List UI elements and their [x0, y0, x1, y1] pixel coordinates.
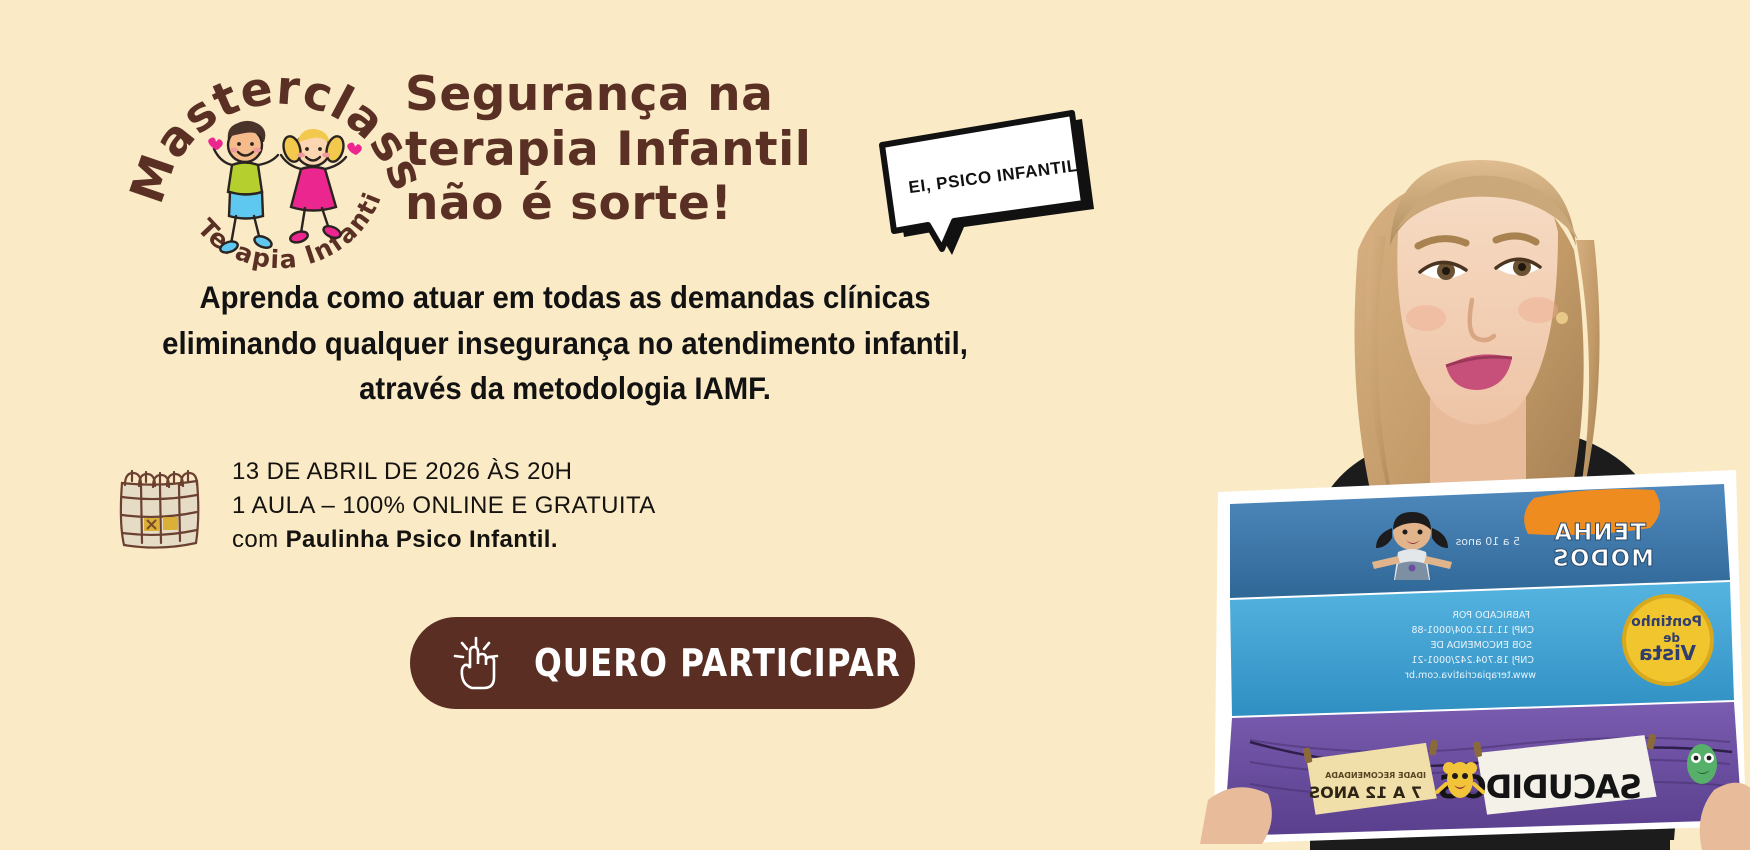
svg-text:SOB ENCOMENDA DE: SOB ENCOMENDA DE [1430, 640, 1532, 651]
cta-label: QUERO PARTICIPAR [534, 641, 901, 685]
subhead-line-3: através da metodologia IAMF. [95, 366, 1034, 412]
event-host-prefix: com [232, 526, 286, 553]
svg-text:CNPJ 11.112.004/0001-88: CNPJ 11.112.004/0001-88 [1411, 625, 1534, 636]
headline-line-1: Segurança na [405, 68, 875, 123]
logo-top-arc-text: Masterclass [120, 60, 436, 210]
svg-text:Pontinho: Pontinho [1631, 614, 1702, 630]
woman-holding-game-boxes: TENHA MODOS 5 a 10 anos [1190, 0, 1750, 850]
page-title: Segurança na terapia Infantil não é sort… [405, 68, 875, 232]
svg-text:CNPJ 18.704.242/0001-21: CNPJ 18.704.242/0001-21 [1411, 655, 1534, 666]
box-seal: Pontinho de Vista [1624, 596, 1712, 684]
svg-text:www.terapiacriativa.com.br: www.terapiacriativa.com.br [1405, 670, 1536, 681]
box-stack: TENHA MODOS 5 a 10 anos [1214, 470, 1746, 844]
monster-green [1687, 744, 1717, 784]
svg-text:Masterclass: Masterclass [120, 60, 436, 210]
event-date-line: 13 DE ABRIL DE 2026 ÀS 20H [232, 455, 656, 489]
box-pontinho-de-vista: FABRICADO POR CNPJ 11.112.004/0001-88 SO… [1230, 582, 1734, 716]
svg-text:7 A 12 ANOS: 7 A 12 ANOS [1309, 783, 1422, 802]
event-format-line: 1 AULA – 100% ONLINE E GRATUITA [232, 489, 656, 523]
subheadline: Aprenda como atuar em todas as demandas … [95, 275, 1034, 412]
box-tenha-modos: TENHA MODOS 5 a 10 anos [1230, 484, 1730, 598]
woman-left-hand [1200, 787, 1272, 844]
svg-text:TENHA: TENHA [1553, 520, 1646, 546]
headline-line-3: não é sorte! [405, 177, 875, 232]
svg-text:FABRICADO POR: FABRICADO POR [1452, 610, 1530, 621]
event-host-name: Paulinha Psico Infantil. [286, 526, 558, 553]
speech-bubble: EI, PSICO INFANTIL [868, 105, 1108, 265]
quero-participar-button[interactable]: QUERO PARTICIPAR [410, 617, 915, 709]
event-host-line: com Paulinha Psico Infantil. [232, 523, 656, 557]
promo-banner: Masterclass Terapia Infantil [0, 0, 1750, 850]
box-sacudidos: IDADE RECOMENDADA 7 A 12 ANOS SACUDIDOS [1224, 702, 1742, 836]
calendar-icon [110, 459, 210, 554]
subhead-line-1: Aprenda como atuar em todas as demandas … [95, 275, 1034, 321]
subhead-line-2: eliminando qualquer insegurança no atend… [95, 321, 1034, 367]
event-details: 13 DE ABRIL DE 2026 ÀS 20H 1 AULA – 100%… [110, 455, 656, 557]
masterclass-terapia-infantil-logo: Masterclass Terapia Infantil [150, 45, 400, 270]
headline-line-2: terapia Infantil [405, 123, 875, 178]
click-hand-icon [450, 634, 504, 692]
svg-text:5 a 10 anos: 5 a 10 anos [1455, 535, 1520, 548]
svg-text:MODOS: MODOS [1551, 546, 1654, 572]
svg-text:Vista: Vista [1639, 641, 1696, 665]
svg-text:IDADE RECOMENDADA: IDADE RECOMENDADA [1324, 771, 1426, 780]
